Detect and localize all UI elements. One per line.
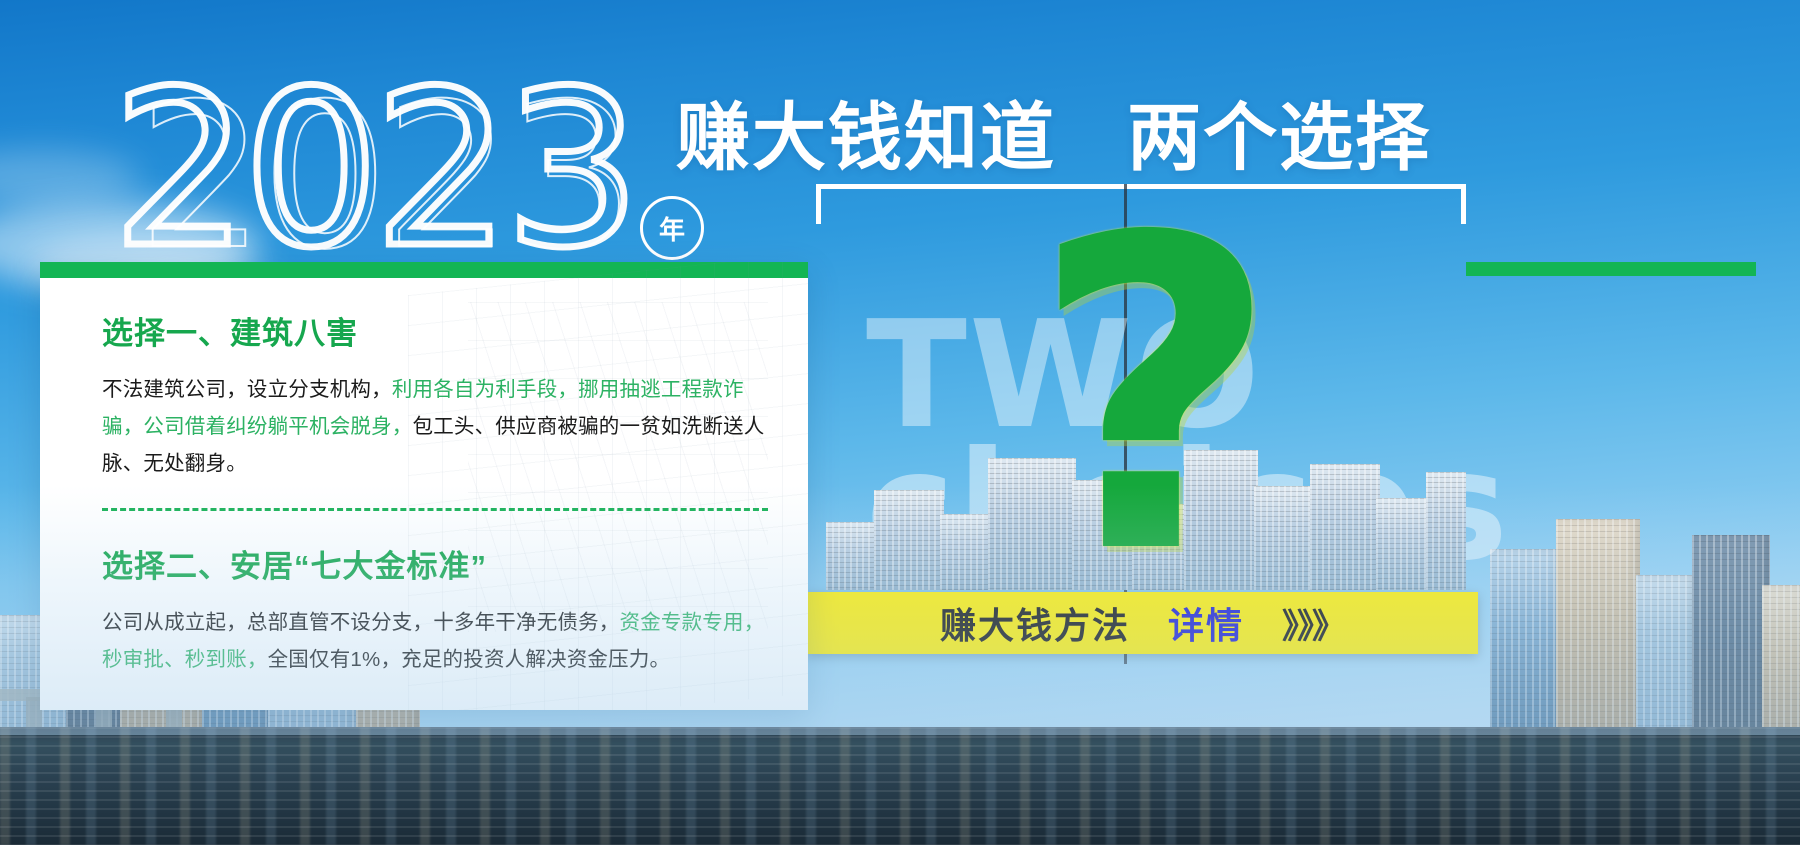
frame-rule-left	[816, 184, 821, 224]
city-skyline-background	[0, 485, 1800, 735]
year-suffix-badge: 年	[640, 196, 704, 260]
section-1-body: 不法建筑公司，设立分支机构，利用各自为利手段，挪用抽逃工程款诈骗，公司借着纠纷躺…	[102, 371, 768, 482]
headline-part-1: 赚大钱知道	[676, 96, 1056, 179]
water-ripples	[0, 727, 1800, 845]
skyline-haze	[0, 485, 1800, 735]
green-accent-bar-right	[1466, 262, 1756, 276]
promo-poster: 2023 2023 年 赚大钱知道 两个选择 TWO choices ? 赚大钱…	[0, 0, 1800, 845]
water-reflection-band	[0, 727, 1800, 845]
year-number-ghost: 2023	[138, 78, 631, 278]
s1-line1-green: 利用各自为利手段，挪用抽逃工程款	[392, 378, 723, 401]
s1-line2-black: 包工头、供应商被骗的一贫如洗	[413, 415, 703, 438]
section-1-title: 选择一、建筑八害	[102, 308, 768, 353]
s1-line1-black: 不法建筑公司，设立分支机构，	[102, 378, 392, 401]
frame-rule-right	[1461, 184, 1466, 224]
